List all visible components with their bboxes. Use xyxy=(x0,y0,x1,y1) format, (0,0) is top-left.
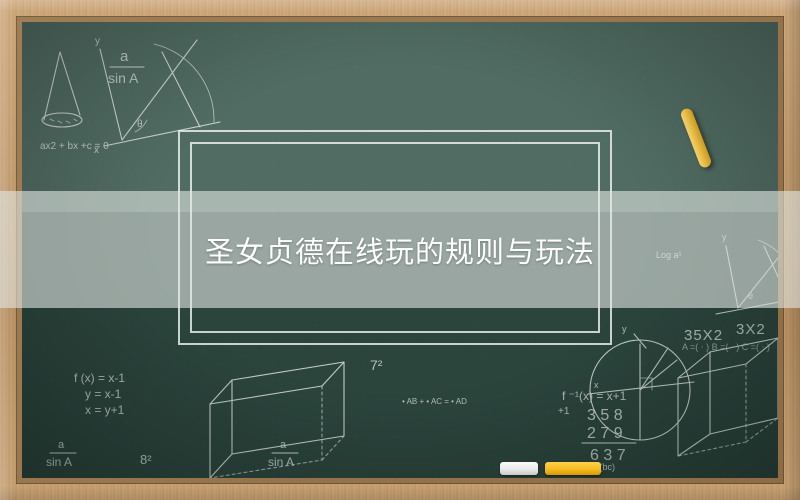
eraser-icon xyxy=(500,462,538,475)
chalkboard-title-card: a sin A y x θ ax2 + bx +c = xyxy=(0,0,800,500)
chalk-stick-tray-icon xyxy=(545,462,601,475)
page-title: 圣女贞德在线玩的规则与玩法 xyxy=(205,229,595,271)
title-overlay-band: 圣女贞德在线玩的规则与玩法 xyxy=(0,191,800,308)
